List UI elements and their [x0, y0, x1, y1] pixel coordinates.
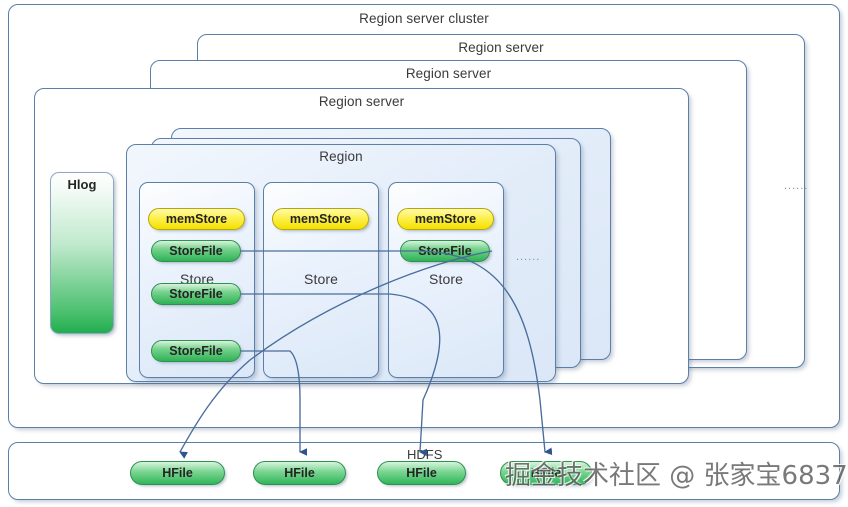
watermark-text: 掘金技术社区 @ 张家宝6837: [505, 455, 848, 492]
storefile-pill-1-1: StoreFile: [151, 240, 241, 262]
diagram-canvas: Region server cluster Region server Regi…: [0, 0, 848, 507]
memstore-pill-2: memStore: [272, 208, 369, 230]
cluster-ellipsis: ......: [784, 180, 808, 192]
store-label-3: Store: [389, 271, 503, 287]
memstore-pill-3: memStore: [397, 208, 494, 230]
storefile-pill-3-1: StoreFile: [400, 240, 490, 262]
store-label-2: Store: [264, 271, 378, 287]
hfile-pill-2: HFile: [253, 461, 346, 485]
stores-ellipsis: ......: [516, 251, 540, 263]
storefile-pill-1-2: StoreFile: [151, 283, 241, 305]
memstore-pill-1: memStore: [148, 208, 245, 230]
region-server-label-2: Region server: [151, 66, 746, 81]
hfile-pill-1: HFile: [130, 461, 225, 485]
region-label: Region: [127, 149, 555, 164]
region-server-label-3: Region server: [35, 94, 688, 109]
region-server-cluster-label: Region server cluster: [9, 11, 839, 26]
storefile-pill-1-3: StoreFile: [151, 340, 241, 362]
hdfs-label: HDFS: [407, 447, 442, 462]
hlog-box: Hlog: [50, 172, 114, 334]
hlog-label: Hlog: [51, 177, 113, 192]
hfile-pill-3: HFile: [377, 461, 466, 485]
region-server-label-1: Region server: [198, 40, 804, 55]
